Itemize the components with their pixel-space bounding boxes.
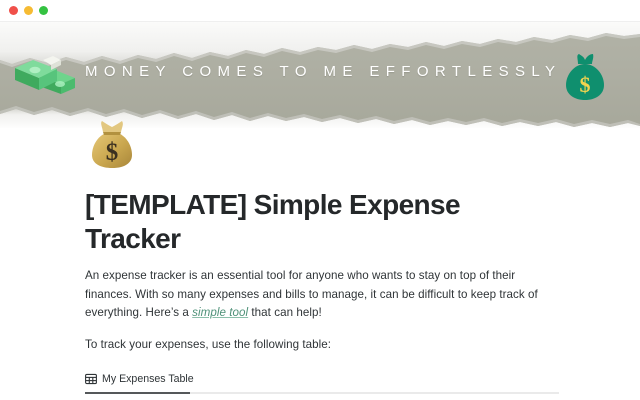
browser-window: $ MONEY COMES TO ME EFFORTLESSLY $ [TEMP… bbox=[0, 0, 640, 400]
tabs-divider bbox=[85, 392, 559, 394]
active-tab-underline bbox=[85, 392, 190, 394]
svg-text:$: $ bbox=[106, 139, 119, 166]
tab-my-expenses-table[interactable]: My Expenses Table bbox=[85, 373, 194, 388]
traffic-light-buttons bbox=[9, 6, 48, 15]
database-tabs: My Expenses Table bbox=[85, 371, 559, 394]
tab-label: My Expenses Table bbox=[102, 373, 194, 385]
money-bag-emoji[interactable]: $ bbox=[86, 118, 138, 170]
title-bar bbox=[0, 0, 640, 22]
minimize-window-button[interactable] bbox=[24, 6, 33, 15]
maximize-window-button[interactable] bbox=[39, 6, 48, 15]
page-content: [TEMPLATE] Simple Expense Tracker An exp… bbox=[0, 170, 640, 400]
intro-paragraph-text-after: that can help! bbox=[248, 306, 322, 319]
page-title: [TEMPLATE] Simple Expense Tracker bbox=[85, 170, 559, 256]
table-icon bbox=[85, 373, 97, 385]
banner-headline: MONEY COMES TO ME EFFORTLESSLY bbox=[0, 62, 640, 82]
close-window-button[interactable] bbox=[9, 6, 18, 15]
intro-paragraph: An expense tracker is an essential tool … bbox=[85, 256, 559, 323]
page-cover-banner[interactable]: $ MONEY COMES TO ME EFFORTLESSLY bbox=[0, 22, 640, 128]
database-title: My Expenses bbox=[85, 394, 559, 400]
instruction-paragraph: To track your expenses, use the followin… bbox=[85, 323, 559, 355]
simple-tool-link[interactable]: simple tool bbox=[192, 306, 248, 319]
